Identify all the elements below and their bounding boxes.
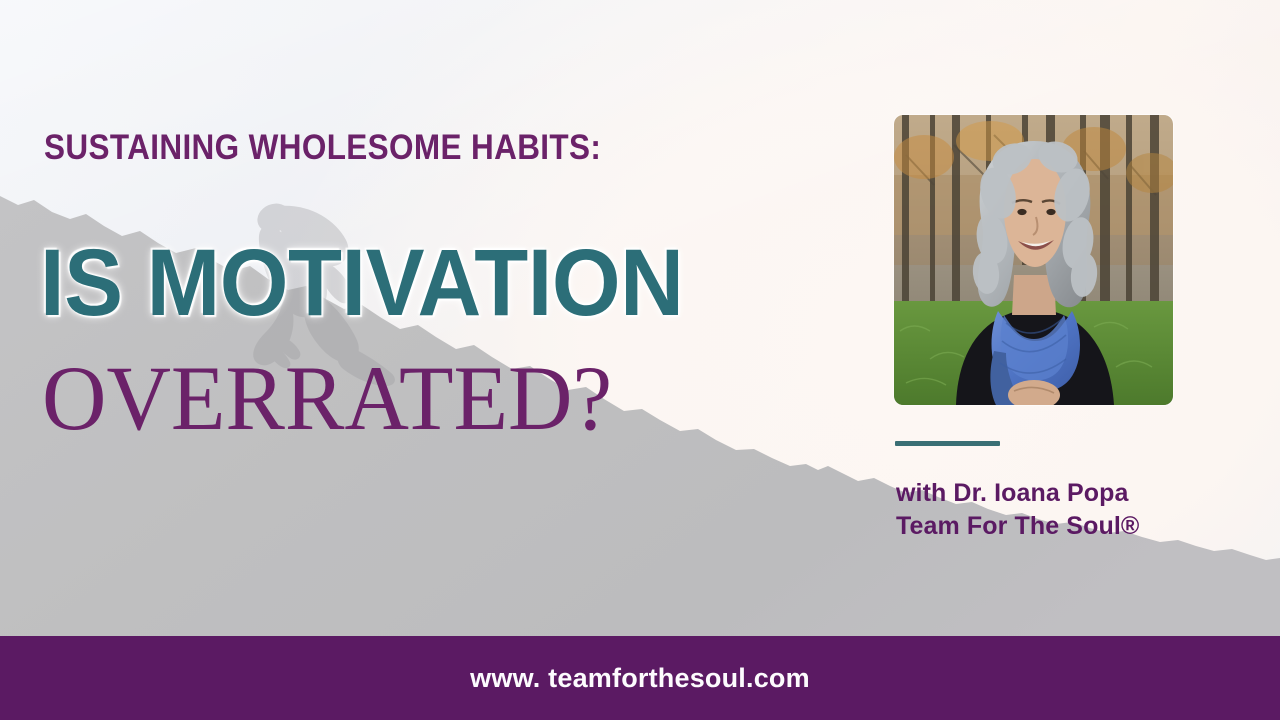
teal-divider (895, 441, 1000, 446)
speaker-credit: with Dr. Ioana Popa Team For The Soul® (896, 477, 1139, 544)
footer-bar: www. teamforthesoul.com (0, 636, 1280, 720)
speaker-photo (894, 115, 1173, 405)
title-line-one: IS MOTIVATION (40, 236, 683, 331)
speaker-credit-line-two: Team For The Soul® (896, 510, 1139, 543)
speaker-credit-line-one: with Dr. Ioana Popa (896, 477, 1139, 510)
speaker-photo-illustration (894, 115, 1173, 405)
footer-website-url[interactable]: www. teamforthesoul.com (470, 663, 810, 694)
slide-canvas: SUSTAINING WHOLESOME HABITS: IS MOTIVATI… (0, 0, 1280, 720)
title-line-two: OVERRATED? (42, 352, 612, 444)
eyebrow-heading: SUSTAINING WHOLESOME HABITS: (44, 128, 601, 168)
